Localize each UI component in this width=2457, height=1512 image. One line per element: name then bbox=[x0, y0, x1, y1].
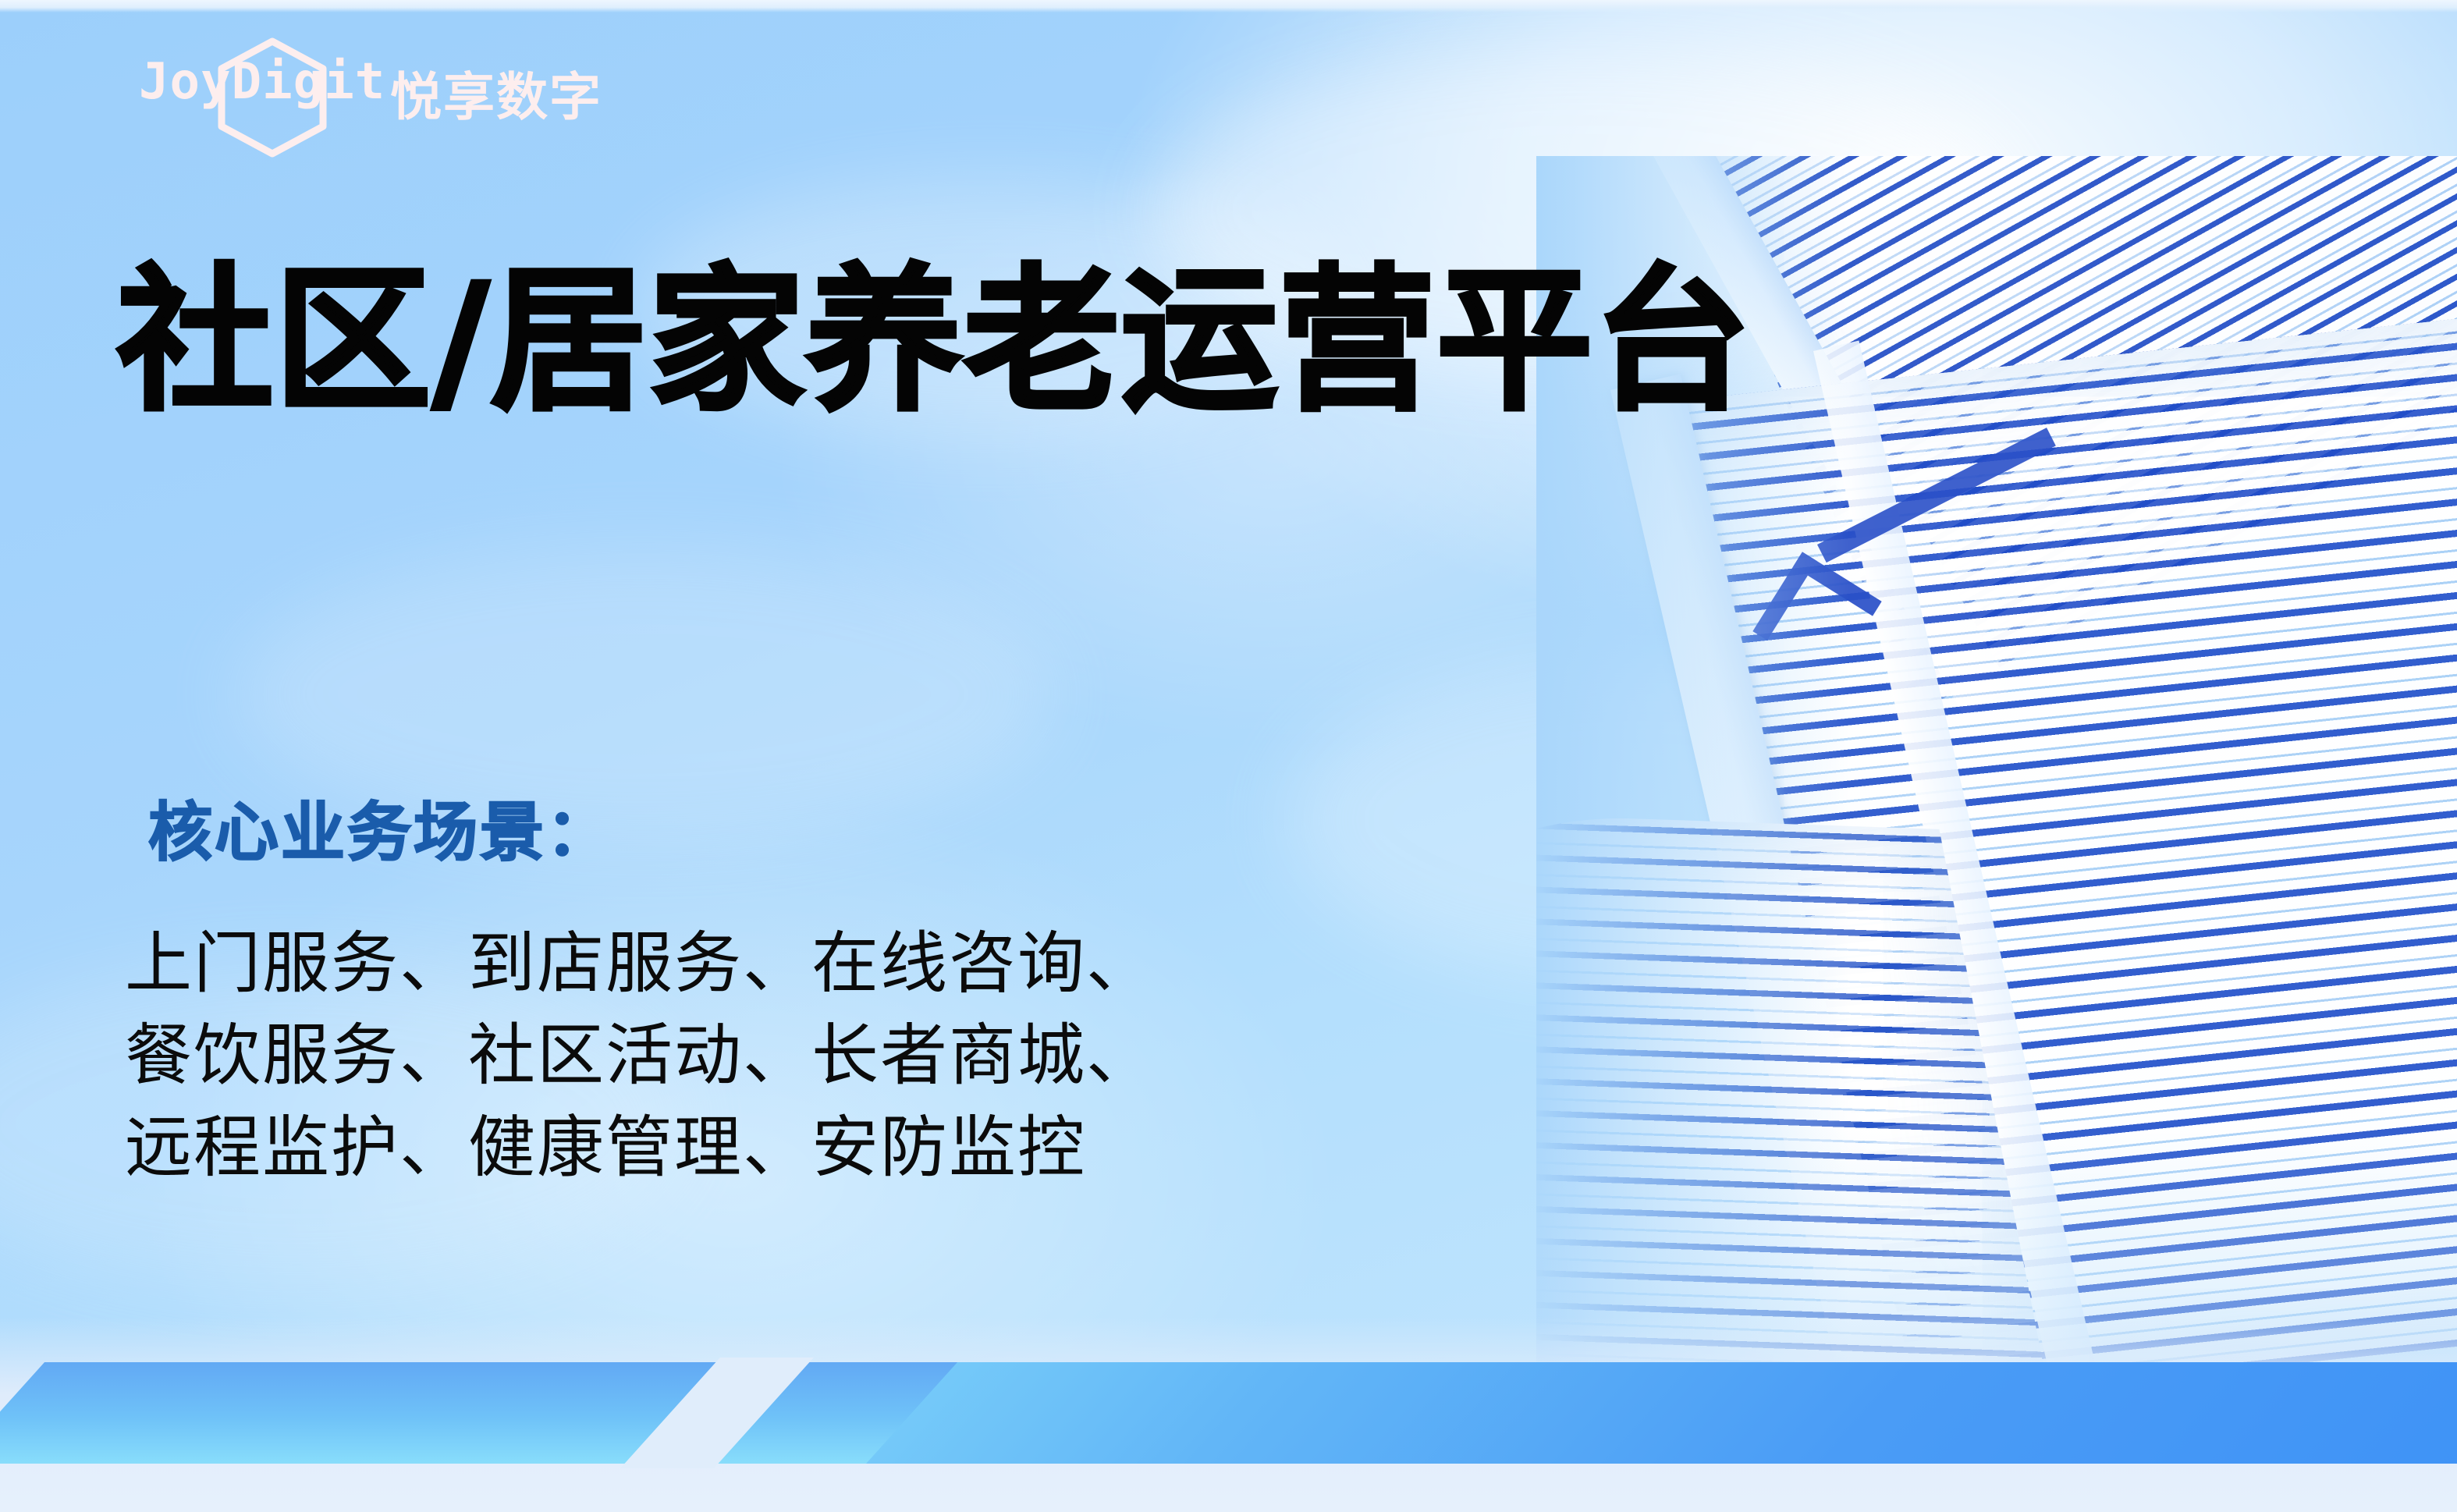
footer-band-left bbox=[0, 1362, 957, 1464]
brand-logo: JoyDigit 悦享数字 bbox=[139, 66, 602, 130]
page-title: 社区/居家养老运营平台 bbox=[117, 257, 1752, 426]
scenario-list: 上门服务、到店服务、在线咨询、 餐饮服务、社区活动、长者商城、 远程监护、健康管… bbox=[125, 921, 1155, 1197]
logo-chinese-name: 悦享数字 bbox=[390, 72, 602, 123]
logo-wordmark: JoyDigit bbox=[139, 57, 396, 107]
scenario-line: 上门服务、到店服务、在线咨询、 bbox=[125, 921, 1155, 1006]
slide-root: JoyDigit 悦享数字 社区/居家养老运营平台 核心业务场景： 上门服务、到… bbox=[0, 0, 2457, 1512]
footer-decoration bbox=[0, 1317, 2457, 1512]
logo-mark: JoyDigit bbox=[139, 57, 396, 139]
section-label: 核心业务场景： bbox=[148, 780, 612, 873]
scenario-line: 远程监护、健康管理、安防监控 bbox=[125, 1105, 1155, 1191]
top-edge-strip bbox=[0, 0, 2457, 12]
scenario-line: 餐饮服务、社区活动、长者商城、 bbox=[125, 1013, 1155, 1099]
